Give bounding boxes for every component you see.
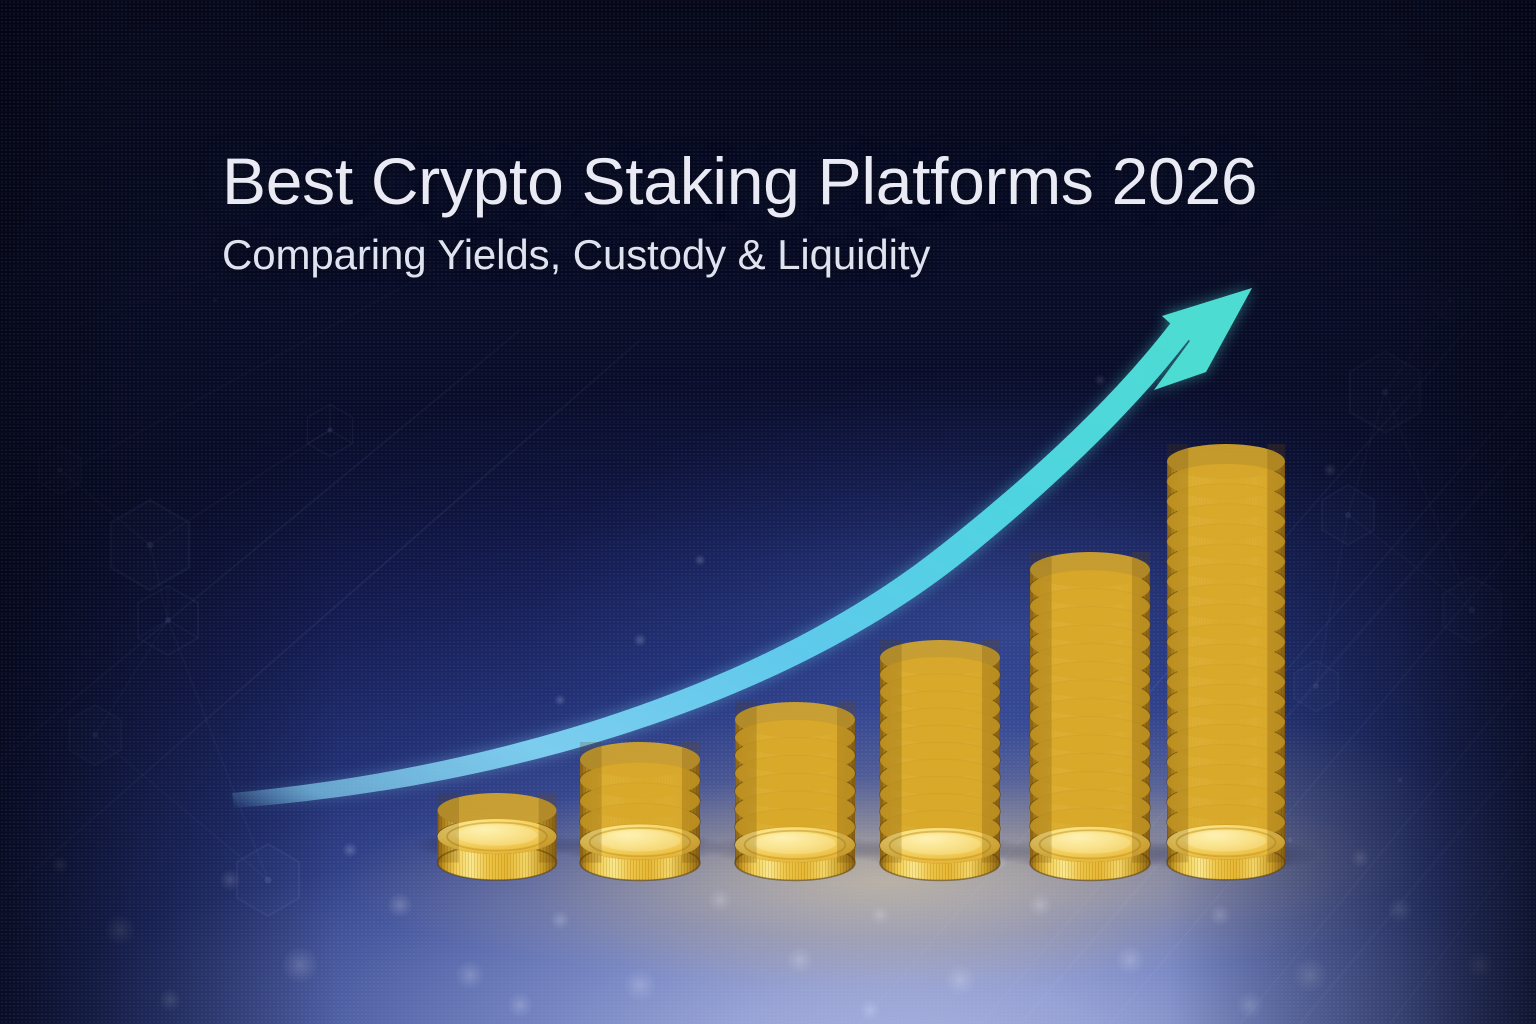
coin-stack xyxy=(1167,444,1285,880)
coin-stack xyxy=(438,793,557,880)
page-title: Best Crypto Staking Platforms 2026 xyxy=(222,148,1422,214)
headline-block: Best Crypto Staking Platforms 2026 Compa… xyxy=(222,148,1422,276)
coin-stack xyxy=(1030,552,1150,880)
coin-stack xyxy=(580,742,700,880)
hero-banner: Best Crypto Staking Platforms 2026 Compa… xyxy=(0,0,1536,1024)
page-subtitle: Comparing Yields, Custody & Liquidity xyxy=(222,234,1422,276)
coin-stack xyxy=(880,640,1000,880)
coin-stack xyxy=(735,702,855,880)
